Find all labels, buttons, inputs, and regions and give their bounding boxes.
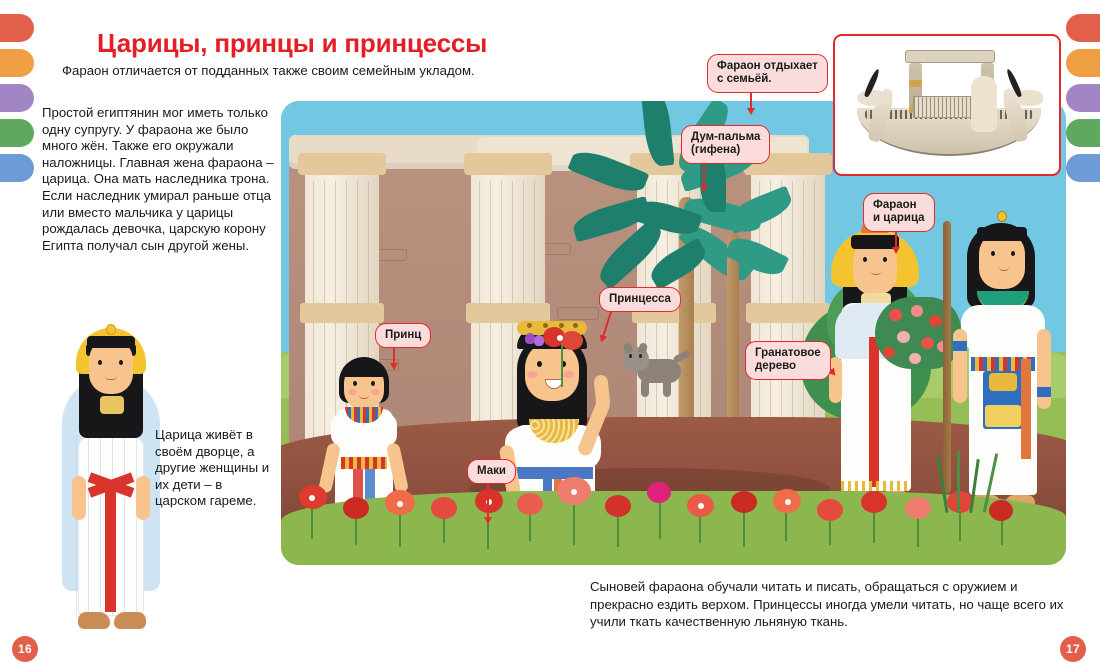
tab-blue[interactable] — [1066, 154, 1100, 182]
tab-green[interactable] — [1066, 119, 1100, 147]
standing-figurine — [971, 76, 997, 132]
page-title: Царицы, принцы и принцессы — [97, 28, 487, 59]
butterfly — [525, 333, 545, 349]
callout-pharaoh-resting[interactable]: Фараон отдыхает с семьёй. — [707, 54, 828, 93]
leader-poppies — [487, 481, 489, 519]
callout-princess[interactable]: Принцесса — [599, 287, 681, 312]
canopy-gold-band — [909, 80, 922, 87]
canopy-roof — [905, 50, 995, 63]
callout-doum-palm[interactable]: Дум-пальма (гифена) — [681, 125, 770, 164]
alabaster-boat-artifact — [833, 34, 1061, 176]
tab-orange[interactable] — [1066, 49, 1100, 77]
wall-brick — [377, 249, 407, 261]
queen-standing-figure — [58, 318, 164, 648]
page-number-left: 16 — [12, 636, 38, 662]
leader-pharaoh-queen — [895, 229, 897, 249]
tab-green[interactable] — [0, 119, 34, 147]
leader-pharaoh-resting — [750, 92, 752, 110]
book-spread: 16 17 Царицы, принцы и принцессы Фараон … — [0, 0, 1100, 672]
leader-doum-palm — [703, 161, 705, 187]
tab-blue[interactable] — [0, 154, 34, 182]
ibex-head-left — [857, 90, 887, 106]
tab-orange[interactable] — [0, 49, 34, 77]
page-subtitle: Фараон отличается от подданных также сво… — [62, 63, 475, 78]
bottom-caption: Сыновей фараона обучали читать и писать,… — [590, 578, 1082, 631]
tab-red[interactable] — [1066, 14, 1100, 42]
edge-tabs-left — [0, 14, 34, 189]
callout-pharaoh-queen[interactable]: Фараон и царица — [863, 193, 935, 232]
page-number-right: 17 — [1060, 636, 1086, 662]
cat-figure — [623, 343, 689, 399]
tab-purple[interactable] — [0, 84, 34, 112]
lead-paragraph: Простой египтянин мог иметь только одну … — [42, 105, 278, 254]
callout-prince[interactable]: Принц — [375, 323, 431, 348]
tab-red[interactable] — [0, 14, 34, 42]
edge-tabs-right — [1066, 14, 1100, 189]
callout-pomegranate[interactable]: Гранатовое дерево — [745, 341, 831, 380]
held-poppy — [539, 317, 589, 385]
queen-caption: Царица живёт в своём дворце, а другие же… — [155, 427, 277, 510]
callout-poppies[interactable]: Маки — [467, 459, 516, 484]
leader-prince — [393, 347, 395, 365]
tab-purple[interactable] — [1066, 84, 1100, 112]
reed-cluster — [931, 449, 1011, 513]
